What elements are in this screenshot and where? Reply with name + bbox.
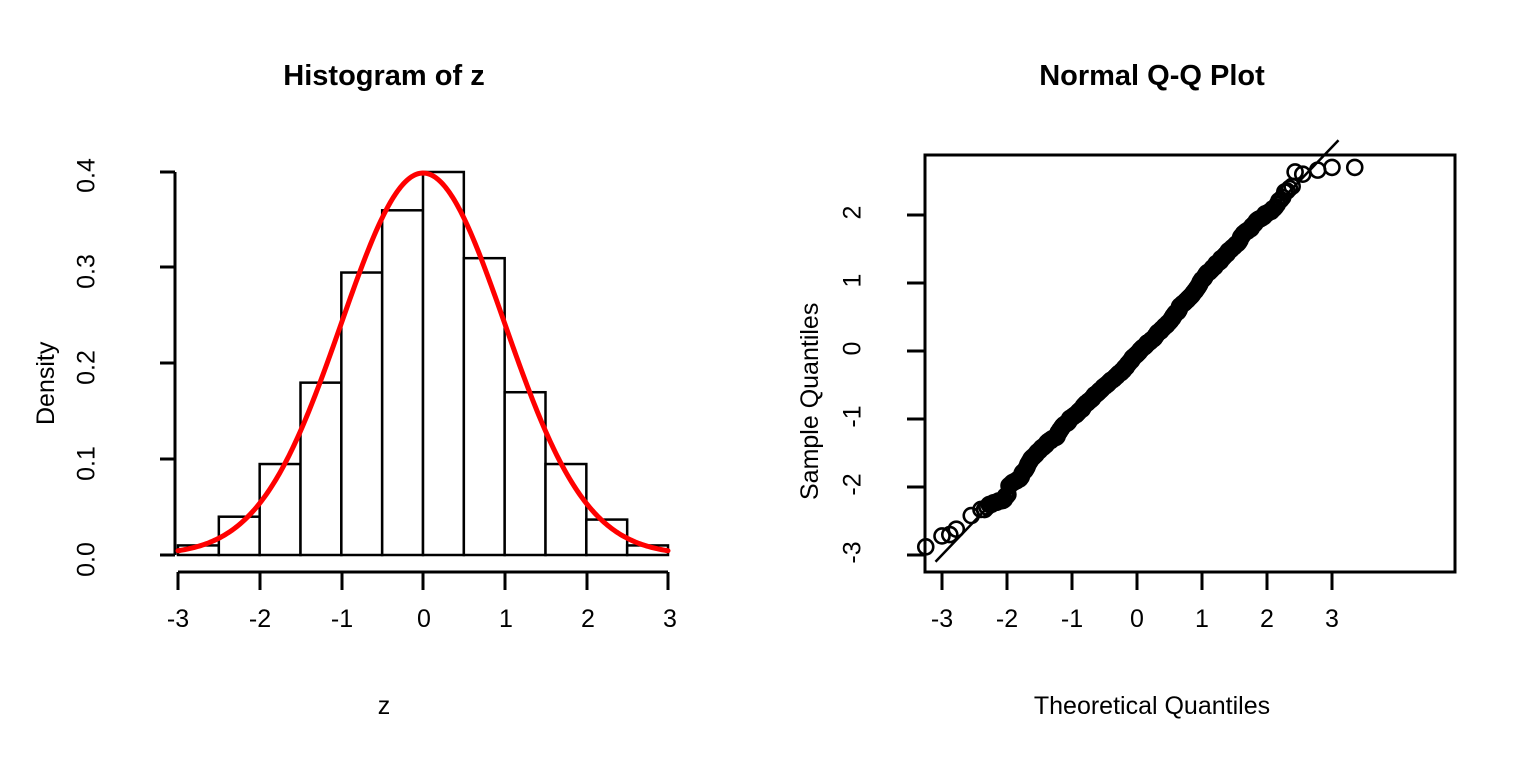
histogram-bar <box>382 210 423 555</box>
qq-x-axis-ticks <box>942 572 1332 590</box>
histogram-plot-area <box>0 0 768 768</box>
histogram-bar <box>260 464 301 555</box>
qq-point <box>1310 163 1325 178</box>
histogram-x-axis <box>178 572 668 590</box>
figure-canvas: Histogram of z Density z 0.0 0.1 0.2 0.3… <box>0 0 1536 768</box>
histogram-y-axis <box>160 172 175 555</box>
qq-plot-panel: Normal Q-Q Plot Sample Quantiles Theoret… <box>768 0 1536 768</box>
qq-point <box>1325 160 1340 175</box>
qq-plot-frame <box>925 155 1455 572</box>
histogram-bars <box>178 172 668 555</box>
qq-y-axis-ticks <box>907 215 925 555</box>
qq-data-points <box>918 160 1362 554</box>
histogram-panel: Histogram of z Density z 0.0 0.1 0.2 0.3… <box>0 0 768 768</box>
histogram-bar <box>301 383 342 555</box>
qq-point <box>1347 160 1362 175</box>
histogram-bar <box>423 172 464 555</box>
qq-plot-area <box>768 0 1536 768</box>
histogram-bar <box>546 464 587 555</box>
histogram-bar <box>341 273 382 555</box>
